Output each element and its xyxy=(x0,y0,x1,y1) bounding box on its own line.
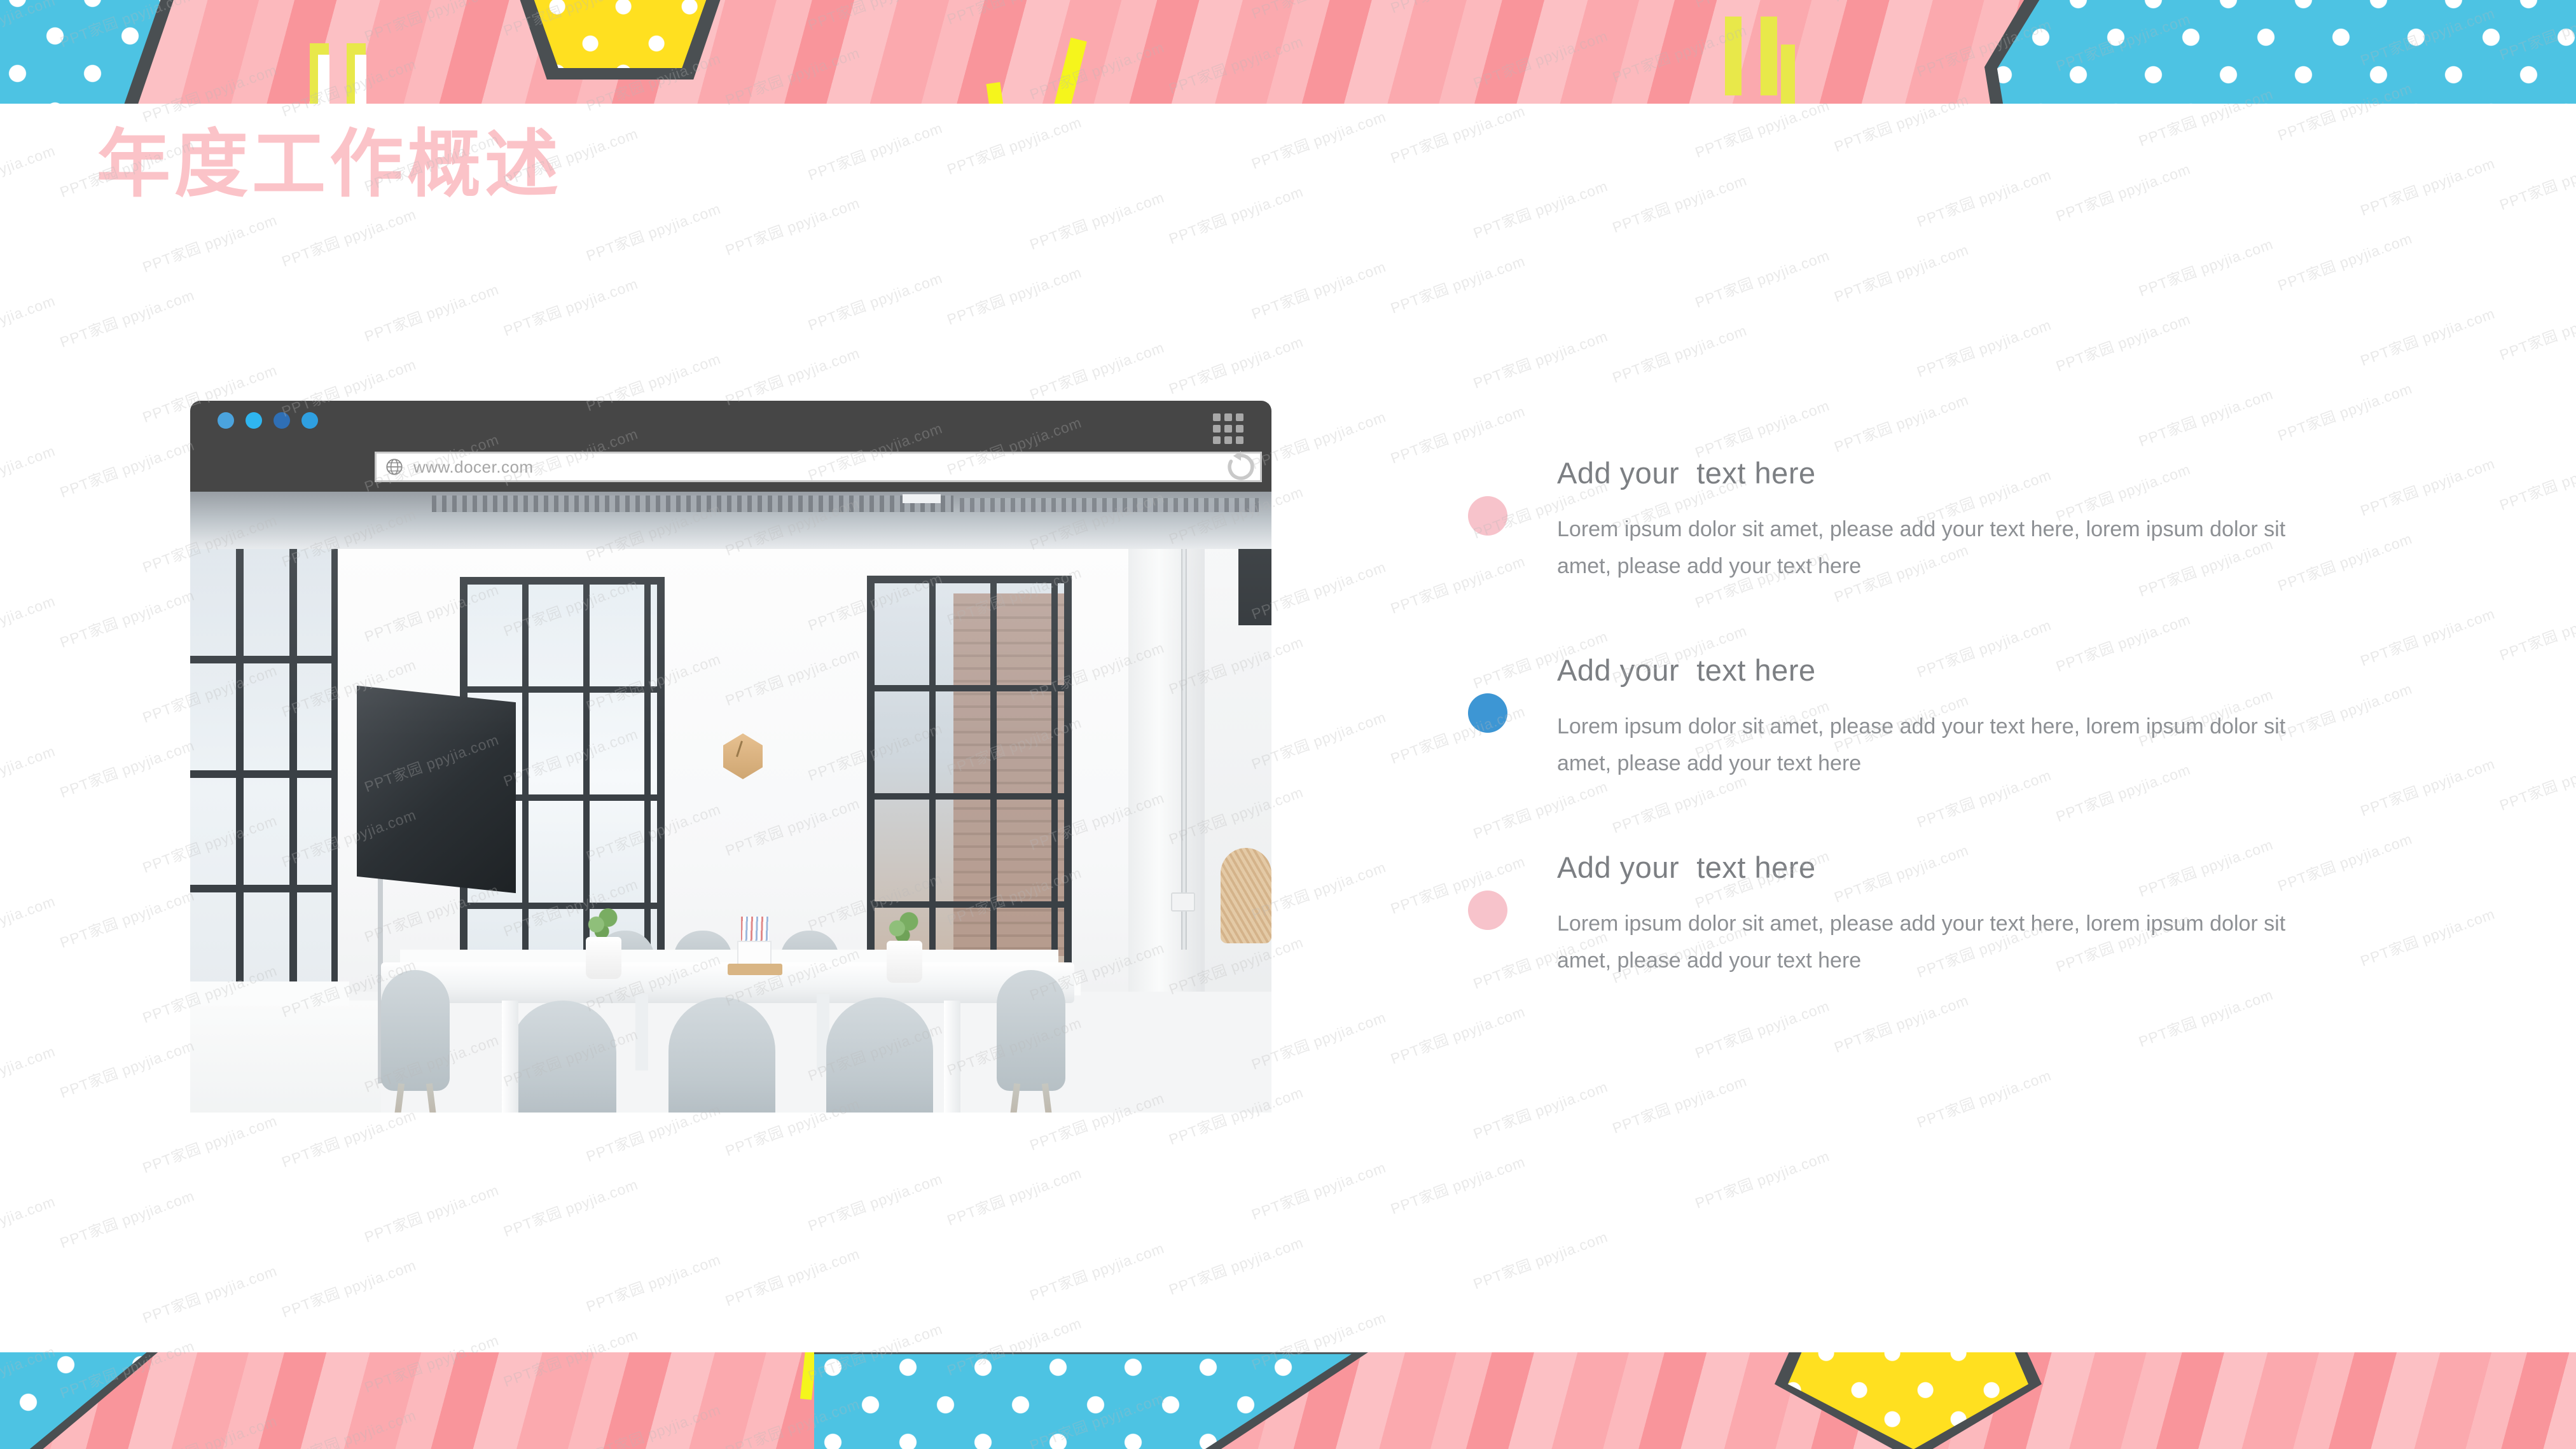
text-block-2-heading: Add your text here xyxy=(1557,653,2308,688)
bullet-dot-pink-2 xyxy=(1468,891,1507,930)
yellow-bar-3 xyxy=(1725,17,1742,95)
bullet-dot-pink-1 xyxy=(1468,496,1507,536)
yellow-bar-5 xyxy=(1781,45,1795,104)
bullet-dot-blue xyxy=(1468,693,1507,733)
text-block-2-body: Lorem ipsum dolor sit amet, please add y… xyxy=(1557,708,2308,782)
text-block-1-heading: Add your text here xyxy=(1557,455,2308,490)
cyan-dotted-shape-right xyxy=(1984,0,2576,104)
office-meeting-room-photo xyxy=(190,492,1271,1113)
text-block-3: Add your text here Lorem ipsum dolor sit… xyxy=(1468,850,2308,980)
browser-traffic-lights xyxy=(218,412,318,429)
grid-menu-icon[interactable] xyxy=(1213,413,1243,444)
text-block-1-body: Lorem ipsum dolor sit amet, please add y… xyxy=(1557,511,2308,585)
text-block-2: Add your text here Lorem ipsum dolor sit… xyxy=(1468,653,2308,782)
cyan-shape-outline-right xyxy=(1984,0,2576,104)
text-column: Add your text here Lorem ipsum dolor sit… xyxy=(1468,455,2308,1047)
text-block-1: Add your text here Lorem ipsum dolor sit… xyxy=(1468,455,2308,585)
traffic-light-4-icon[interactable] xyxy=(301,412,318,429)
traffic-light-2-icon[interactable] xyxy=(246,412,262,429)
text-block-3-body: Lorem ipsum dolor sit amet, please add y… xyxy=(1557,905,2308,980)
text-block-3-heading: Add your text here xyxy=(1557,850,2308,885)
url-text: www.docer.com xyxy=(413,457,534,477)
bottom-decoration-band xyxy=(0,1352,2576,1449)
refresh-icon[interactable] xyxy=(1224,450,1257,483)
browser-chrome-bar: www.docer.com xyxy=(190,401,1271,492)
browser-mockup: www.docer.com xyxy=(190,401,1271,1113)
photo-overlay xyxy=(190,492,1271,1113)
page-title: 年度工作概述 xyxy=(97,126,562,204)
white-bar-1 xyxy=(318,55,329,104)
white-bar-2 xyxy=(355,55,366,104)
globe-icon xyxy=(385,458,403,476)
yellow-bar-4 xyxy=(1761,17,1777,95)
url-bar[interactable]: www.docer.com xyxy=(375,452,1262,482)
traffic-light-3-icon[interactable] xyxy=(274,412,290,429)
slide-canvas: 年度工作概述 www.docer.com xyxy=(0,0,2576,1449)
traffic-light-1-icon[interactable] xyxy=(218,412,234,429)
top-decoration-band xyxy=(0,0,2576,104)
